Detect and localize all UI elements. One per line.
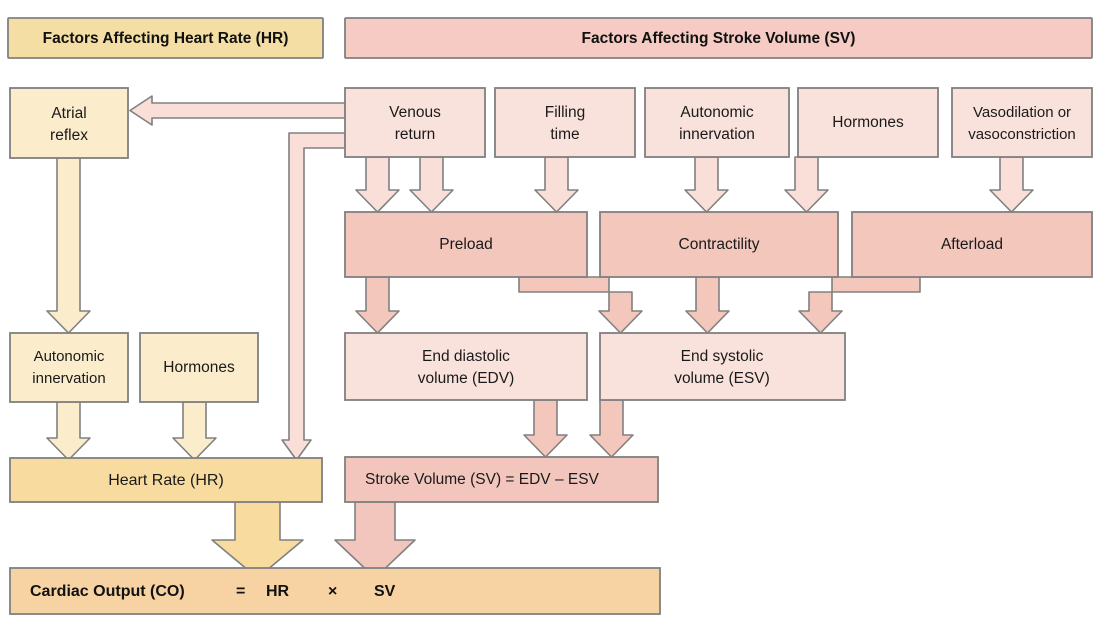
node-hormones-sv-line1: Hormones: [832, 114, 904, 131]
node-autonomic-innervation-hr-line1: Autonomic: [34, 348, 105, 365]
arrow-preload-to-edv: [356, 277, 399, 333]
arrow-edv-to-stroke-volume: [524, 400, 567, 457]
node-vasodilation-line2: vasoconstriction: [968, 126, 1076, 143]
node-autonomic-innervation-sv-line2: innervation: [679, 126, 755, 143]
node-preload-label: Preload: [439, 236, 492, 253]
header-sv-banner: Factors Affecting Stroke Volume (SV): [345, 18, 1092, 58]
node-esv-box: [600, 333, 845, 400]
arrow-autonomic-innervation-to-heart-rate: [47, 402, 90, 460]
header-sv-label: Factors Affecting Stroke Volume (SV): [582, 30, 856, 47]
arrow-vasodilation-to-afterload: [990, 157, 1033, 212]
cardiac-output-times: ×: [328, 583, 337, 600]
node-venous-return: Venous return: [345, 88, 485, 157]
node-autonomic-innervation-hr-box: [10, 333, 128, 402]
cardiac-output-term: Cardiac Output (CO): [30, 583, 185, 600]
node-autonomic-innervation-hr-line2: innervation: [32, 370, 105, 387]
arrow-esv-to-stroke-volume: [590, 400, 633, 457]
arrow-atrial-reflex-to-autonomic-innervation: [47, 158, 90, 333]
node-preload: Preload: [345, 212, 587, 277]
arrow-venous-return-to-atrial-reflex: [130, 96, 345, 125]
node-afterload-label: Afterload: [941, 236, 1003, 253]
arrow-venous-return-to-preload-a: [356, 157, 399, 212]
node-hormones-sv: Hormones: [798, 88, 938, 157]
diagram-canvas: Factors Affecting Heart Rate (HR) Factor…: [0, 0, 1100, 626]
arrow-filling-time-to-preload: [535, 157, 578, 212]
node-heart-rate: Heart Rate (HR): [10, 458, 322, 502]
node-atrial-reflex-line1: Atrial: [51, 105, 86, 122]
node-edv-line1: End diastolic: [422, 348, 510, 365]
arrow-contractility-to-esv: [686, 277, 729, 333]
arrow-hormones-to-contractility: [785, 157, 828, 212]
arrow-venous-return-to-preload-b: [410, 157, 453, 212]
node-afterload: Afterload: [852, 212, 1092, 277]
node-autonomic-innervation-sv: Autonomic innervation: [645, 88, 789, 157]
arrow-afterload-to-esv: [799, 277, 920, 333]
node-vasodilation: Vasodilation or vasoconstriction: [952, 88, 1092, 157]
node-hormones-hr: Hormones: [140, 333, 258, 402]
node-autonomic-innervation-sv-box: [645, 88, 789, 157]
node-autonomic-innervation-sv-line1: Autonomic: [680, 104, 753, 121]
node-venous-return-line1: Venous: [389, 104, 441, 121]
node-filling-time-box: [495, 88, 635, 157]
node-atrial-reflex: Atrial reflex: [10, 88, 128, 158]
node-autonomic-innervation-hr: Autonomic innervation: [10, 333, 128, 402]
node-filling-time-line2: time: [550, 126, 579, 143]
cardiac-output-factor1: HR: [266, 583, 290, 600]
node-edv-line2: volume (EDV): [418, 370, 514, 387]
node-atrial-reflex-line2: reflex: [50, 127, 88, 144]
header-hr-banner: Factors Affecting Heart Rate (HR): [8, 18, 323, 58]
header-hr-label: Factors Affecting Heart Rate (HR): [43, 30, 289, 47]
node-contractility: Contractility: [600, 212, 838, 277]
node-esv-line1: End systolic: [681, 348, 764, 365]
cardiac-output-equals: =: [236, 583, 245, 600]
arrow-stroke-volume-to-cardiac-output: [335, 502, 415, 578]
arrow-hormones-hr-to-heart-rate: [173, 402, 216, 460]
node-stroke-volume: Stroke Volume (SV) = EDV – ESV: [345, 457, 658, 502]
node-heart-rate-label: Heart Rate (HR): [108, 472, 224, 489]
arrow-heart-rate-to-cardiac-output: [212, 502, 303, 578]
node-filling-time-line1: Filling: [545, 104, 585, 121]
node-cardiac-output: Cardiac Output (CO) = HR × SV: [10, 568, 660, 614]
node-vasodilation-box: [952, 88, 1092, 157]
arrow-venous-return-to-heart-rate: [282, 133, 345, 460]
node-edv: End diastolic volume (EDV): [345, 333, 587, 400]
node-esv-line2: volume (ESV): [674, 370, 770, 387]
node-venous-return-line2: return: [395, 126, 436, 143]
cardiac-output-factor2: SV: [374, 583, 396, 600]
arrow-autonomic-innervation-to-contractility: [685, 157, 728, 212]
node-filling-time: Filling time: [495, 88, 635, 157]
arrow-preload-to-esv: [519, 277, 642, 333]
cardiac-output-flowchart: Factors Affecting Heart Rate (HR) Factor…: [0, 0, 1100, 626]
node-venous-return-box: [345, 88, 485, 157]
node-contractility-label: Contractility: [679, 236, 760, 253]
node-esv: End systolic volume (ESV): [600, 333, 845, 400]
node-hormones-hr-line1: Hormones: [163, 359, 235, 376]
node-edv-box: [345, 333, 587, 400]
node-stroke-volume-label: Stroke Volume (SV) = EDV – ESV: [365, 471, 600, 488]
node-atrial-reflex-box: [10, 88, 128, 158]
node-vasodilation-line1: Vasodilation or: [973, 104, 1071, 121]
